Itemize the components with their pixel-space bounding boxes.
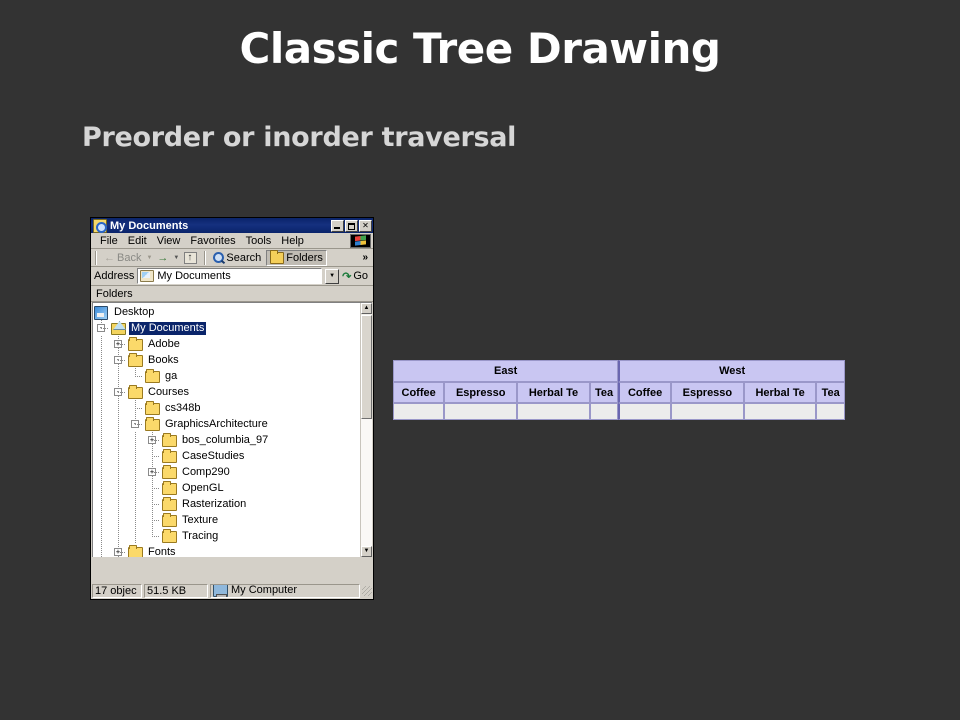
arrow-right-icon: → bbox=[157, 250, 168, 266]
tree-item-label: My Documents bbox=[129, 322, 206, 335]
expand-plus-icon[interactable]: + bbox=[114, 340, 122, 348]
tree-indent-guide bbox=[93, 416, 110, 432]
tree-item-adobe[interactable]: +Adobe bbox=[93, 336, 360, 352]
tree-item-label: Comp290 bbox=[180, 466, 232, 479]
tree-item-label: Fonts bbox=[146, 546, 178, 558]
tree-item-label: CaseStudies bbox=[180, 450, 246, 463]
tree-item-casestudies[interactable]: CaseStudies bbox=[93, 448, 360, 464]
back-button-label: Back bbox=[117, 250, 141, 266]
column-header-east-coffee: Coffee bbox=[393, 382, 444, 403]
table-cell[interactable] bbox=[444, 403, 517, 420]
tree-item-label: ga bbox=[163, 370, 179, 383]
tree-indent-guide bbox=[93, 480, 110, 496]
go-button[interactable]: ↷ Go bbox=[342, 270, 370, 283]
close-button[interactable]: ✕ bbox=[359, 220, 372, 232]
collapse-minus-icon[interactable]: - bbox=[114, 356, 122, 364]
go-button-label: Go bbox=[353, 270, 368, 282]
table-group-header-row: East West bbox=[393, 360, 845, 382]
tree-expander-cell[interactable]: - bbox=[110, 384, 127, 400]
tree-indent-guide bbox=[93, 544, 110, 557]
table-cell[interactable] bbox=[393, 403, 444, 420]
tree-expander-cell[interactable]: - bbox=[127, 416, 144, 432]
tree-item-graphicsarchitecture[interactable]: -GraphicsArchitecture bbox=[93, 416, 360, 432]
tree-item-my-documents[interactable]: -My Documents bbox=[93, 320, 360, 336]
folder-icon bbox=[144, 417, 160, 431]
folder-icon bbox=[144, 369, 160, 383]
tree-expander-cell bbox=[127, 400, 144, 416]
group-header-west: West bbox=[618, 360, 845, 382]
tree-indent-guide bbox=[93, 448, 110, 464]
menu-item-edit[interactable]: Edit bbox=[123, 234, 152, 248]
tree-indent-guide bbox=[110, 368, 127, 384]
tree-indent-guide bbox=[93, 368, 110, 384]
tree-item-books[interactable]: -Books bbox=[93, 352, 360, 368]
tree-indent-guide bbox=[110, 432, 127, 448]
folder-icon bbox=[161, 465, 177, 479]
folder-icon bbox=[161, 481, 177, 495]
tree-item-label: OpenGL bbox=[180, 482, 226, 495]
folder-tree: Desktop-My Documents+Adobe-Booksga-Cours… bbox=[93, 304, 360, 557]
tree-item-opengl[interactable]: OpenGL bbox=[93, 480, 360, 496]
windows-explorer-window: My Documents ✕ File Edit View Favorites … bbox=[90, 217, 374, 600]
tree-indent-guide bbox=[127, 464, 144, 480]
tree-indent-guide bbox=[127, 512, 144, 528]
forward-history-chevron-down-icon[interactable]: ▼ bbox=[173, 255, 179, 261]
maximize-button[interactable] bbox=[345, 220, 358, 232]
tree-expander-cell bbox=[144, 528, 161, 544]
window-titlebar[interactable]: My Documents ✕ bbox=[91, 218, 373, 233]
address-value: My Documents bbox=[157, 270, 230, 282]
window-title: My Documents bbox=[110, 220, 331, 232]
scroll-up-button[interactable]: ▲ bbox=[361, 303, 372, 314]
forward-button[interactable]: → bbox=[154, 250, 171, 266]
tree-indent-guide bbox=[93, 336, 110, 352]
tree-indent-guide bbox=[110, 512, 127, 528]
search-button-label: Search bbox=[226, 250, 261, 266]
menu-item-view[interactable]: View bbox=[152, 234, 186, 248]
back-button[interactable]: ← Back bbox=[101, 250, 144, 266]
tree-item-label: Books bbox=[146, 354, 181, 367]
collapse-minus-icon[interactable]: - bbox=[131, 420, 139, 428]
window-controls: ✕ bbox=[331, 220, 372, 232]
folder-icon bbox=[127, 385, 143, 399]
group-header-east: East bbox=[393, 360, 618, 382]
tree-expander-cell bbox=[144, 448, 161, 464]
tree-expander-cell[interactable]: + bbox=[110, 336, 127, 352]
my-documents-icon bbox=[140, 270, 154, 282]
menu-item-help[interactable]: Help bbox=[276, 234, 309, 248]
pivot-table: East West Coffee Espresso Herbal Te Tea … bbox=[393, 360, 845, 420]
tree-indent-guide bbox=[93, 528, 110, 544]
tree-item-ga[interactable]: ga bbox=[93, 368, 360, 384]
tree-expander-cell[interactable]: + bbox=[144, 464, 161, 480]
tree-expander-cell[interactable]: - bbox=[110, 352, 127, 368]
tree-vertical-scrollbar[interactable]: ▲ ▼ bbox=[360, 303, 372, 557]
folder-icon bbox=[161, 513, 177, 527]
table-body bbox=[393, 403, 845, 420]
slide-subtitle: Preorder or inorder traversal bbox=[82, 122, 516, 153]
tree-indent-guide bbox=[127, 480, 144, 496]
tree-indent-guide bbox=[110, 464, 127, 480]
status-object-count: 17 objec bbox=[92, 584, 142, 598]
status-zone-label: My Computer bbox=[231, 584, 297, 597]
menu-item-tools[interactable]: Tools bbox=[241, 234, 277, 248]
status-bar: 17 objec 51.5 KB My Computer bbox=[92, 583, 372, 598]
scrollbar-track[interactable] bbox=[361, 419, 372, 546]
folders-button-label: Folders bbox=[286, 250, 323, 266]
column-header-east-tea: Tea bbox=[590, 382, 618, 403]
folder-search-icon bbox=[93, 219, 107, 233]
tree-indent-guide bbox=[93, 496, 110, 512]
status-zone: My Computer bbox=[210, 584, 360, 598]
tree-item-courses[interactable]: -Courses bbox=[93, 384, 360, 400]
address-label: Address bbox=[94, 270, 134, 282]
column-header-east-espresso: Espresso bbox=[444, 382, 517, 403]
tree-indent-guide bbox=[127, 432, 144, 448]
desktop-icon bbox=[93, 305, 109, 319]
folder-icon bbox=[127, 545, 143, 557]
expand-plus-icon[interactable]: + bbox=[148, 468, 156, 476]
arrow-left-icon: ← bbox=[104, 250, 115, 266]
tree-indent-guide bbox=[93, 352, 110, 368]
folder-tree-pane: Desktop-My Documents+Adobe-Booksga-Cours… bbox=[92, 302, 372, 557]
tree-indent-guide bbox=[127, 528, 144, 544]
tree-indent-guide bbox=[110, 496, 127, 512]
tree-indent-guide bbox=[110, 528, 127, 544]
table-cell[interactable] bbox=[590, 403, 618, 420]
tree-item-label: GraphicsArchitecture bbox=[163, 418, 270, 431]
folder-icon bbox=[127, 353, 143, 367]
tree-item-label: Texture bbox=[180, 514, 220, 527]
tree-item-desktop[interactable]: Desktop bbox=[93, 304, 360, 320]
address-bar: Address My Documents ▼ ↷ Go bbox=[91, 267, 373, 286]
scrollbar-thumb[interactable] bbox=[361, 315, 372, 419]
column-header-west-coffee: Coffee bbox=[618, 382, 671, 403]
tree-item-label: bos_columbia_97 bbox=[180, 434, 270, 447]
tree-expander-cell bbox=[144, 496, 161, 512]
table-row bbox=[393, 403, 845, 420]
folders-icon bbox=[270, 252, 284, 264]
folder-icon bbox=[127, 337, 143, 351]
tree-item-label: Rasterization bbox=[180, 498, 248, 511]
table-column-header-row: Coffee Espresso Herbal Te Tea Coffee Esp… bbox=[393, 382, 845, 403]
folder-icon bbox=[161, 529, 177, 543]
tree-item-cs348b[interactable]: cs348b bbox=[93, 400, 360, 416]
up-button[interactable] bbox=[181, 250, 200, 266]
search-button[interactable]: Search bbox=[210, 250, 264, 266]
tree-expander-cell[interactable]: + bbox=[110, 544, 127, 557]
page-title: Classic Tree Drawing bbox=[0, 24, 960, 73]
tree-item-bos-columbia-97[interactable]: +bos_columbia_97 bbox=[93, 432, 360, 448]
tree-item-label: Courses bbox=[146, 386, 191, 399]
tree-indent-guide bbox=[93, 464, 110, 480]
back-history-chevron-down-icon[interactable]: ▼ bbox=[146, 255, 152, 261]
menu-item-favorites[interactable]: Favorites bbox=[185, 234, 240, 248]
folder-icon bbox=[144, 401, 160, 415]
tree-indent-guide bbox=[110, 480, 127, 496]
search-icon bbox=[213, 252, 224, 263]
folders-button[interactable]: Folders bbox=[266, 250, 327, 266]
tree-item-texture[interactable]: Texture bbox=[93, 512, 360, 528]
tree-indent-guide bbox=[93, 512, 110, 528]
go-arrow-icon: ↷ bbox=[342, 270, 351, 283]
tree-item-tracing[interactable]: Tracing bbox=[93, 528, 360, 544]
expand-plus-icon[interactable]: + bbox=[114, 548, 122, 556]
resize-grip[interactable] bbox=[362, 586, 372, 596]
tree-expander-cell[interactable]: - bbox=[93, 320, 110, 336]
table-cell[interactable] bbox=[618, 403, 671, 420]
menu-bar: File Edit View Favorites Tools Help bbox=[91, 233, 373, 249]
tree-expander-cell[interactable]: + bbox=[144, 432, 161, 448]
tree-indent-guide bbox=[93, 384, 110, 400]
tree-item-label: Adobe bbox=[146, 338, 182, 351]
navigation-toolbar: ← Back ▼ → ▼ Search Folders » bbox=[91, 249, 373, 267]
tree-item-rasterization[interactable]: Rasterization bbox=[93, 496, 360, 512]
toolbar-overflow-chevron-icon[interactable]: » bbox=[362, 252, 371, 263]
tree-item-comp290[interactable]: +Comp290 bbox=[93, 464, 360, 480]
address-dropdown-chevron-down-icon[interactable]: ▼ bbox=[325, 269, 339, 284]
folders-pane-header: Folders bbox=[91, 286, 373, 302]
tree-indent-guide bbox=[127, 496, 144, 512]
tree-indent-guide bbox=[93, 432, 110, 448]
windows-logo-icon bbox=[350, 234, 371, 248]
column-header-west-tea: Tea bbox=[816, 382, 845, 403]
folder-icon bbox=[161, 433, 177, 447]
collapse-minus-icon[interactable]: - bbox=[97, 324, 105, 332]
tree-indent-guide bbox=[110, 400, 127, 416]
tree-item-fonts[interactable]: +Fonts bbox=[93, 544, 360, 557]
tree-indent-guide bbox=[127, 448, 144, 464]
table-cell[interactable] bbox=[744, 403, 817, 420]
status-size: 51.5 KB bbox=[144, 584, 208, 598]
table-cell[interactable] bbox=[816, 403, 845, 420]
toolbar-separator bbox=[204, 251, 206, 265]
tree-expander-cell bbox=[127, 368, 144, 384]
tree-item-label: Desktop bbox=[112, 306, 156, 319]
folder-icon bbox=[161, 497, 177, 511]
scroll-down-button[interactable]: ▼ bbox=[361, 546, 372, 557]
tree-indent-guide bbox=[110, 416, 127, 432]
address-input[interactable]: My Documents bbox=[137, 268, 322, 284]
table-cell[interactable] bbox=[517, 403, 590, 420]
collapse-minus-icon[interactable]: - bbox=[114, 388, 122, 396]
tree-expander-cell bbox=[144, 512, 161, 528]
up-folder-icon bbox=[184, 252, 197, 264]
table-cell[interactable] bbox=[671, 403, 744, 420]
my-documents-icon bbox=[110, 321, 126, 335]
column-header-west-herbal-tea: Herbal Te bbox=[744, 382, 817, 403]
column-header-east-herbal-tea: Herbal Te bbox=[517, 382, 590, 403]
tree-expander-cell bbox=[144, 480, 161, 496]
menu-item-file[interactable]: File bbox=[95, 234, 123, 248]
folder-icon bbox=[161, 449, 177, 463]
column-header-west-espresso: Espresso bbox=[671, 382, 744, 403]
minimize-button[interactable] bbox=[331, 220, 344, 232]
tree-item-label: cs348b bbox=[163, 402, 202, 415]
tree-item-label: Tracing bbox=[180, 530, 220, 543]
tree-indent-guide bbox=[110, 448, 127, 464]
toolbar-grip[interactable] bbox=[95, 251, 97, 265]
expand-plus-icon[interactable]: + bbox=[148, 436, 156, 444]
computer-icon bbox=[213, 584, 228, 597]
tree-indent-guide bbox=[93, 400, 110, 416]
